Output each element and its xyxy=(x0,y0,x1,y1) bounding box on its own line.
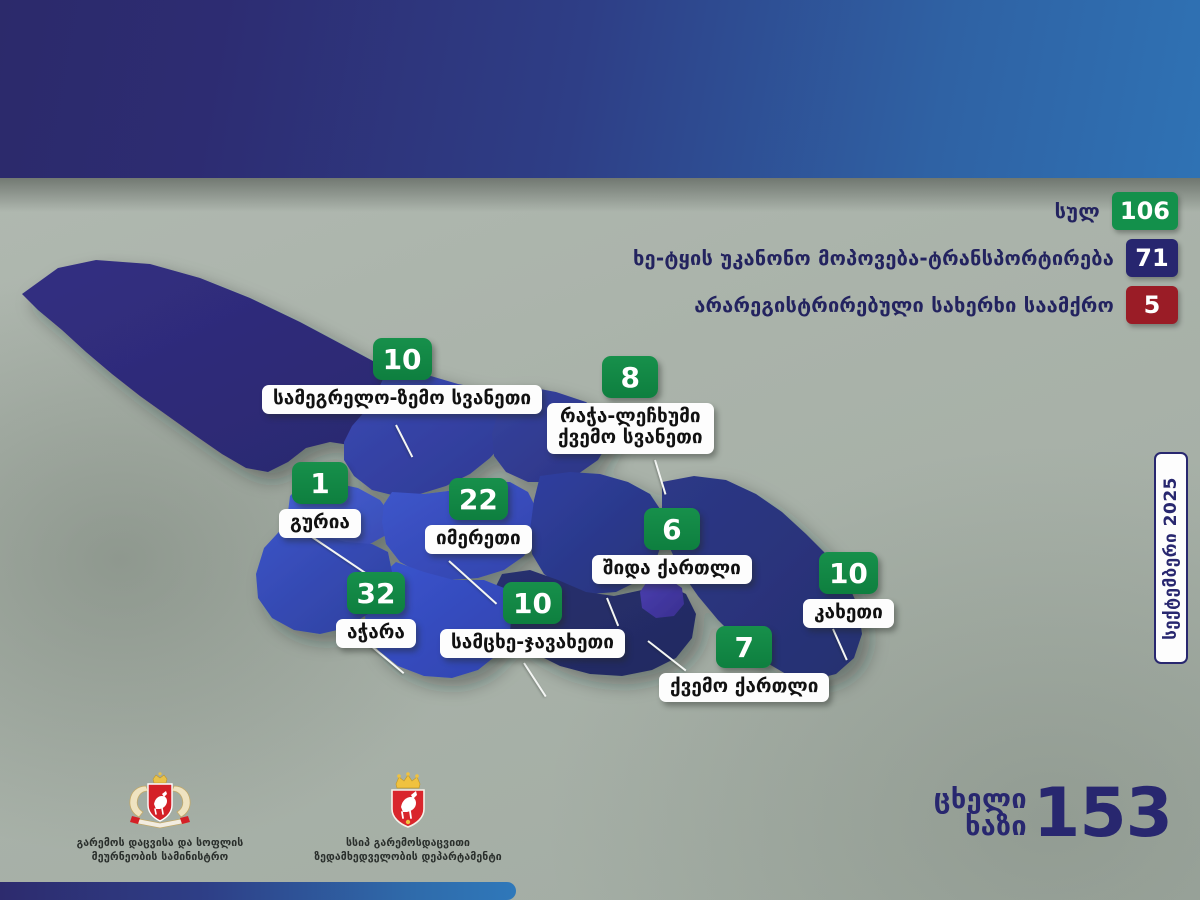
bottom-accent-bar xyxy=(0,882,516,900)
count-kakheti: 10 xyxy=(819,552,878,594)
count-adjara: 32 xyxy=(347,572,406,614)
callout-samegrelo-zemo-svaneti[interactable]: 10 სამეგრელო-ზემო სვანეთი xyxy=(262,338,542,414)
label-imereti: იმერეთი xyxy=(425,525,532,554)
count-imereti: 22 xyxy=(449,478,508,520)
callout-samtskhe-javakheti[interactable]: 10 სამცხე-ჯავახეთი xyxy=(440,582,625,658)
georgia-coat-of-arms-icon xyxy=(122,772,198,830)
department-caption: სსიპ გარემოსდაცვითი ზედამხედველობის დეპა… xyxy=(314,836,502,864)
date-badge-text: სექტემბერი 2025 xyxy=(1161,477,1181,640)
callout-kakheti[interactable]: 10 კახეთი xyxy=(803,552,894,628)
legend: სულ 106 ხე-ტყის უკანონო მოპოვება-ტრანსპო… xyxy=(633,192,1178,324)
callout-imereti[interactable]: 22 იმერეთი xyxy=(425,478,532,554)
header-banner xyxy=(0,0,1200,178)
callout-racha-lechkhumi-kvemo-svaneti[interactable]: 8 რაჭა-ლეჩხუმი ქვემო სვანეთი xyxy=(547,356,714,454)
hotline-line2: ხაზი xyxy=(965,814,1027,840)
callout-kvemo-kartli[interactable]: 7 ქვემო ქართლი xyxy=(659,626,829,702)
label-samtskhe-javakheti: სამცხე-ჯავახეთი xyxy=(440,629,625,658)
hotline-words: ცხელი ხაზი xyxy=(934,787,1027,840)
department-logo-block: სსიპ გარემოსდაცვითი ზედამხედველობის დეპა… xyxy=(278,772,538,864)
label-samegrelo-zemo-svaneti: სამეგრელო-ზემო სვანეთი xyxy=(262,385,542,414)
hotline: ცხელი ხაზი 153 xyxy=(934,786,1172,842)
footer: გარემოს დაცვისა და სოფლის მეურნეობის სამ… xyxy=(0,770,620,880)
count-kvemo-kartli: 7 xyxy=(716,626,772,668)
legend-chip-illegal-logging-transport: 71 xyxy=(1126,239,1178,277)
count-samegrelo-zemo-svaneti: 10 xyxy=(373,338,432,380)
label-guria: გურია xyxy=(279,509,361,538)
legend-row-illegal-logging-transport: ხე-ტყის უკანონო მოპოვება-ტრანსპორტირება … xyxy=(633,239,1178,277)
label-shida-kartli: შიდა ქართლი xyxy=(592,555,752,584)
legend-label-total: სულ xyxy=(1055,199,1100,223)
ministry-caption: გარემოს დაცვისა და სოფლის მეურნეობის სამ… xyxy=(77,836,244,864)
callout-guria[interactable]: 1 გურია xyxy=(279,462,361,538)
count-shida-kartli: 6 xyxy=(644,508,700,550)
count-guria: 1 xyxy=(292,462,348,504)
legend-row-total: სულ 106 xyxy=(1055,192,1178,230)
callout-adjara[interactable]: 32 აჭარა xyxy=(336,572,416,648)
hotline-number: 153 xyxy=(1033,786,1172,842)
date-badge: სექტემბერი 2025 xyxy=(1154,452,1188,664)
label-racha-lechkhumi-kvemo-svaneti: რაჭა-ლეჩხუმი ქვემო სვანეთი xyxy=(547,403,714,454)
ministry-logo-block: გარემოს დაცვისა და სოფლის მეურნეობის სამ… xyxy=(40,772,280,864)
label-adjara: აჭარა xyxy=(336,619,416,648)
label-kakheti: კახეთი xyxy=(803,599,894,628)
legend-chip-total: 106 xyxy=(1112,192,1178,230)
count-samtskhe-javakheti: 10 xyxy=(503,582,562,624)
department-emblem-icon xyxy=(379,772,437,830)
hotline-line1: ცხელი xyxy=(934,787,1027,813)
legend-label-illegal-logging-transport: ხე-ტყის უკანონო მოპოვება-ტრანსპორტირება xyxy=(633,246,1114,270)
legend-row-unregistered-sawmill: არარეგისტრირებული სახერხი საამქრო 5 xyxy=(694,286,1178,324)
label-kvemo-kartli: ქვემო ქართლი xyxy=(659,673,829,702)
legend-label-unregistered-sawmill: არარეგისტრირებული სახერხი საამქრო xyxy=(694,293,1114,317)
count-racha-lechkhumi-kvemo-svaneti: 8 xyxy=(602,356,658,398)
legend-chip-unregistered-sawmill: 5 xyxy=(1126,286,1178,324)
callout-shida-kartli[interactable]: 6 შიდა ქართლი xyxy=(592,508,752,584)
